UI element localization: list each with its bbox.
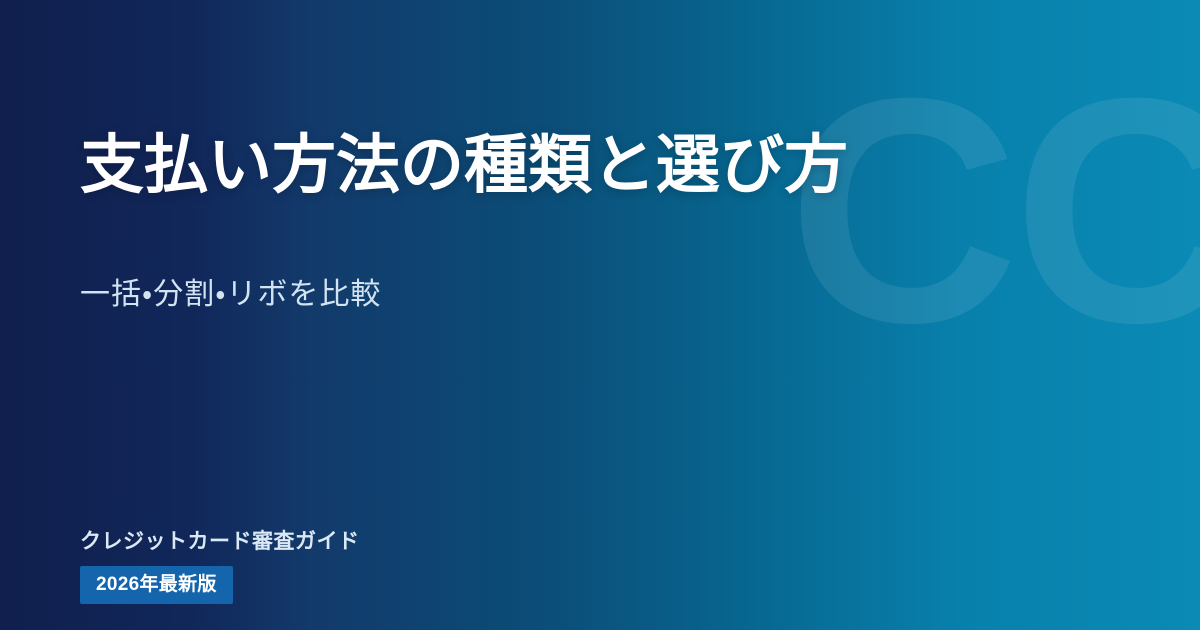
page-title: 支払い方法の種類と選び方 [80, 128, 848, 204]
og-image-card: CC 支払い方法の種類と選び方 一括・分割・リボを比較 クレジットカード審査ガイ… [0, 0, 1200, 630]
edition-badge: 2026年最新版 [80, 566, 233, 604]
content-stack: 支払い方法の種類と選び方 一括・分割・リボを比較 クレジットカード審査ガイド 2… [80, 0, 1120, 630]
page-subtitle: 一括・分割・リボを比較 [80, 272, 381, 317]
footer-block: クレジットカード審査ガイド 2026年最新版 [80, 529, 360, 604]
site-name: クレジットカード審査ガイド [80, 529, 360, 554]
